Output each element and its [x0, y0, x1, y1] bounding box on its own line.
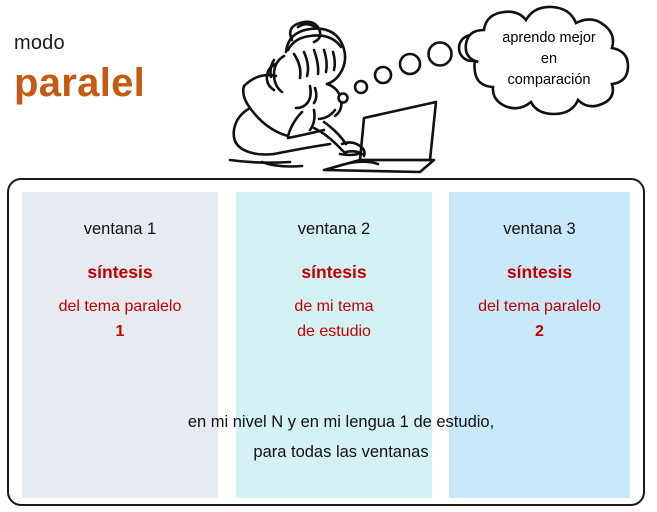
panels-row: ventana 1 síntesis del tema paralelo 1 v…: [22, 192, 630, 498]
synthesis-desc-1-line2: 1: [116, 323, 125, 340]
thought-dot-1: [339, 94, 348, 103]
thought-dot-2: [355, 81, 367, 93]
thought-bubble-text: aprendo mejor en comparación: [466, 28, 632, 91]
thought-bubble: aprendo mejor en comparación: [332, 2, 657, 134]
title-prefix: modo: [14, 30, 224, 56]
synthesis-desc-1: del tema paralelo 1: [22, 294, 218, 344]
thought-dot-5: [429, 43, 452, 66]
bubble-line-2: en: [541, 51, 557, 67]
header-area: modo paralel: [0, 0, 657, 176]
bubble-line-1: aprendo mejor: [502, 30, 596, 46]
window-label-3: ventana 3: [449, 218, 630, 240]
thought-dot-3: [375, 67, 391, 83]
footer-caption: en mi nivel N y en mi lengua 1 de estudi…: [22, 407, 657, 467]
synthesis-desc-3: del tema paralelo 2: [449, 294, 630, 344]
synthesis-desc-3-line1: del tema paralelo: [478, 298, 601, 315]
page-title: modo paralel: [14, 30, 224, 106]
footer-line-1: en mi nivel N y en mi lengua 1 de estudi…: [22, 407, 657, 437]
synthesis-desc-2-line2: de estudio: [297, 323, 371, 340]
synthesis-desc-2-line1: de mi tema: [294, 298, 373, 315]
bubble-line-3: comparación: [507, 72, 590, 88]
window-label-1: ventana 1: [22, 218, 218, 240]
footer-line-2: para todas las ventanas: [22, 437, 657, 467]
synthesis-desc-3-line2: 2: [535, 323, 544, 340]
synthesis-word-2: síntesis: [236, 260, 432, 284]
title-main: paralel: [14, 60, 224, 106]
synthesis-word-3: síntesis: [449, 260, 630, 284]
thought-dot-4: [400, 54, 420, 74]
windows-container: ventana 1 síntesis del tema paralelo 1 v…: [7, 178, 645, 506]
synthesis-desc-2: de mi tema de estudio: [236, 294, 432, 344]
window-label-2: ventana 2: [236, 218, 432, 240]
synthesis-word-1: síntesis: [22, 260, 218, 284]
synthesis-desc-1-line1: del tema paralelo: [59, 298, 182, 315]
